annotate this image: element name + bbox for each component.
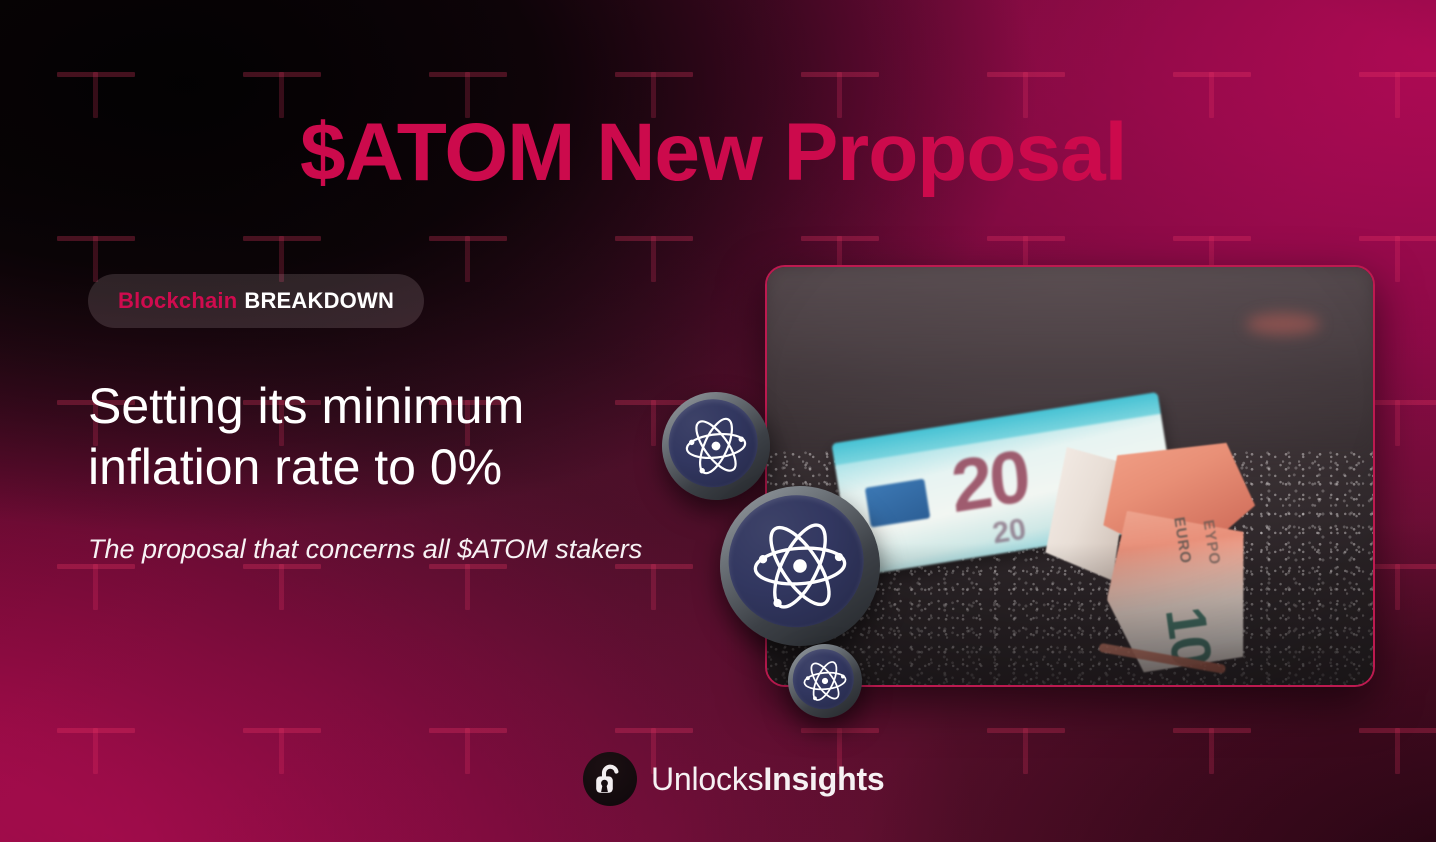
open-padlock-icon <box>583 752 637 806</box>
atom-coin-small-bottom <box>785 641 865 721</box>
atom-icon <box>744 510 855 621</box>
subheadline-text: The proposal that concerns all $ATOM sta… <box>88 532 658 568</box>
badge-suffix: BREAKDOWN <box>244 288 394 314</box>
badge-prefix: Blockchain <box>118 288 237 314</box>
brand-name-bold: Insights <box>763 761 884 797</box>
social-graphic-canvas: $ATOM New Proposal Blockchain BREAKDOWN … <box>0 0 1436 842</box>
category-badge: Blockchain BREAKDOWN <box>88 274 424 328</box>
atom-coin-large <box>715 481 886 652</box>
atom-icon <box>799 655 851 707</box>
page-title: $ATOM New Proposal <box>300 112 1126 194</box>
atom-icon <box>679 409 754 484</box>
headline-text: Setting its minimum inflation rate to 0% <box>88 376 688 498</box>
brand-logo: UnlocksInsights <box>583 752 885 806</box>
brand-name-light: Unlocks <box>651 761 763 797</box>
brand-name: UnlocksInsights <box>651 761 885 798</box>
atom-coin-small-top <box>657 387 776 506</box>
